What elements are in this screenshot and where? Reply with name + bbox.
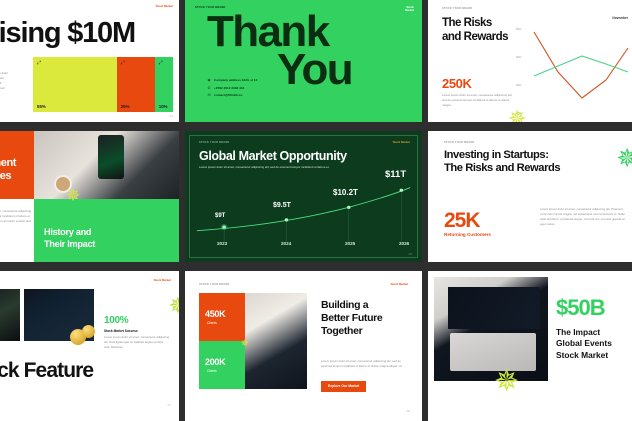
point-2025	[347, 206, 351, 209]
title-line-2: Global Events	[556, 338, 612, 348]
slide-content: STOCK YOUR BRAND Investing in Startups: …	[428, 131, 632, 262]
starburst-icon: ✵	[66, 187, 80, 204]
starburst-icon: ✵	[616, 145, 632, 171]
slide-content: STOCK YOUR BRAND Stock Market 450K Clien…	[185, 271, 422, 421]
slide-investing-in-startups[interactable]: STOCK YOUR BRAND Investing in Startups: …	[428, 131, 632, 271]
slide-thank-you[interactable]: STOCK YOUR BRAND Stock Market Thank You …	[185, 0, 428, 131]
tile-label: Clients	[207, 321, 217, 325]
slide-content: STOCK YOUR BRAND The Risks and Rewards 2…	[428, 0, 632, 122]
status-badge: Stock Market	[393, 141, 410, 144]
contact-address[interactable]: ◉ Company address 1234, st 12	[207, 78, 257, 82]
page-title: Investment Strategies	[0, 157, 16, 183]
crypto-photo	[24, 289, 94, 341]
page-title: Stock Feature	[0, 359, 93, 383]
side-line-4: sed do eiusmod	[0, 86, 24, 91]
bar-value: 25%	[121, 104, 130, 109]
page-title: The Impact Global Events Stock Market	[556, 327, 612, 361]
status-badge: Stock Market	[391, 283, 408, 286]
phone-photo	[98, 135, 124, 179]
slide-global-market-opportunity[interactable]: STOCK YOUR BRAND Stock Market Global Mar…	[185, 131, 428, 271]
point-2023	[222, 225, 226, 228]
slide-deck-grid: Stock Market Stock Market Raising $10M 1…	[0, 0, 632, 421]
laptop-trading-photo	[434, 277, 548, 381]
title-line-2: and Rewards	[442, 31, 508, 43]
title-line-1: The Risks	[442, 17, 492, 29]
x-tick-2024: 2024	[281, 241, 291, 246]
point-2024	[285, 218, 289, 221]
kpi-label: Returning Customers	[444, 232, 491, 237]
page-number: 05	[409, 252, 412, 256]
series-risk-line	[534, 32, 628, 98]
trading-photo	[245, 293, 307, 389]
title-line-2: Strategies	[0, 170, 11, 182]
side-stats: 10% Lorem ipsum dolor sit amet consec ad…	[0, 62, 24, 91]
chart-svg	[526, 14, 630, 120]
coin-graphic	[82, 325, 95, 338]
bar-segment[interactable]: ⤢ 55%	[33, 57, 117, 112]
slide-investment-strategies[interactable]: Investment Strategies ✵ History and Thei…	[0, 131, 185, 271]
body-text: Lorem ipsum dolor sit amet, consectetur …	[0, 209, 32, 229]
page-number: 01	[170, 114, 173, 118]
title-line-2: The Risks and Rewards	[444, 162, 560, 174]
x-tick-2026: 2026	[399, 241, 409, 246]
phone-icon: ✆	[207, 86, 211, 90]
contact-email[interactable]: ✉ contact@fifinitiv.co	[207, 93, 257, 97]
body-text: Lorem ipsum dolor sit amet, consectetur …	[540, 207, 626, 227]
badge-line-2: Market	[405, 8, 414, 12]
green-line-2: Their Impact	[44, 239, 95, 249]
data-label-2023: $9T	[215, 213, 225, 219]
title-line-3: Stock Market	[556, 350, 608, 360]
arrow-up-right-icon: ⤢	[37, 61, 41, 66]
slide-stock-feature[interactable]: STOCK YOUR BRAND Stock Market 100% Stock…	[0, 271, 185, 421]
brand-tag: STOCK YOUR BRAND	[199, 283, 230, 286]
status-badge: Stock Market	[154, 279, 171, 282]
location-pin-icon: ◉	[207, 78, 211, 82]
tile-value: 450K	[205, 309, 225, 319]
growth-curve	[197, 188, 410, 231]
slide-content: STOCK YOUR BRAND Stock Market Global Mar…	[185, 131, 422, 262]
starburst-icon: ✵	[241, 339, 249, 348]
status-badge: Stock Market	[156, 5, 173, 8]
keyboard-graphic	[450, 333, 536, 371]
funding-bar-chart: ⤢ 55% ⤢ 25% ⤢ 10%	[33, 57, 173, 112]
slide-building-better-future[interactable]: STOCK YOUR BRAND Stock Market 450K Clien…	[185, 271, 428, 421]
slide-content: STOCK YOUR BRAND Stock Market 100% Stock…	[0, 271, 179, 421]
title-line-1: Investment	[0, 157, 16, 169]
contact-list: ◉ Company address 1234, st 12 ✆ +0782 40…	[207, 78, 257, 101]
starburst-icon: ✵	[494, 367, 519, 397]
thank-you-line-2: You	[277, 52, 352, 89]
page-title: Raising $10M	[0, 17, 135, 50]
y-tick-label: 40%	[516, 56, 521, 59]
title-line-2: Better Future	[321, 312, 382, 324]
slide-content: $50B The Impact Global Events Stock Mark…	[428, 271, 632, 421]
slide-raising-10m[interactable]: Stock Market Stock Market Raising $10M 1…	[0, 0, 185, 131]
page-title: The Risks and Rewards	[442, 17, 508, 44]
brand-tag: STOCK YOUR BRAND	[444, 141, 475, 144]
body-text: Lorem ipsum dolor sit amet, consectetur …	[442, 93, 514, 108]
data-label-2026: $11T	[385, 169, 406, 180]
slide-impact-global-events[interactable]: $50B The Impact Global Events Stock Mark…	[428, 271, 632, 421]
risk-reward-line-chart: November 50% 40% 30% 20%	[526, 14, 630, 120]
green-headline: History and Their Impact	[44, 227, 95, 250]
explore-our-market-button[interactable]: Explore Our Market	[321, 381, 366, 392]
page-title: Global Market Opportunity	[199, 149, 347, 163]
bar-segment[interactable]: ⤢ 25%	[117, 57, 155, 112]
bar-segment[interactable]: ⤢ 10%	[155, 57, 173, 112]
page-number: 07	[168, 403, 171, 407]
contact-email-text: contact@fifinitiv.co	[214, 93, 242, 97]
contact-phone[interactable]: ✆ +0782 4012 3333 444	[207, 86, 257, 90]
slide-content: Investment Strategies ✵ History and Thei…	[0, 131, 179, 262]
page-number: 08	[407, 409, 410, 413]
contact-address-text: Company address 1234, st 12	[214, 78, 257, 82]
slide-content: STOCK YOUR BRAND Stock Market Thank You …	[185, 0, 422, 122]
page-title: Investing in Startups: The Risks and Rew…	[444, 149, 560, 176]
desk-photo	[34, 131, 179, 199]
y-tick-label: 50%	[516, 28, 521, 31]
kpi-value: 100%	[104, 315, 128, 326]
bar-value: 10%	[159, 104, 168, 109]
slide-content: Stock Market Stock Market Raising $10M 1…	[0, 0, 179, 122]
page-title: Building a Better Future Together	[321, 299, 382, 339]
slide-risks-and-rewards[interactable]: STOCK YOUR BRAND The Risks and Rewards 2…	[428, 0, 632, 131]
data-label-2024: $9.5T	[273, 202, 291, 209]
title-line-3: Together	[321, 325, 362, 337]
starburst-icon: ✵	[169, 295, 179, 317]
screen-graphic	[448, 287, 540, 329]
contact-phone-text: +0782 4012 3333 444	[214, 86, 244, 90]
brand-tag: STOCK YOUR BRAND	[199, 141, 230, 144]
title-line-1: Building a	[321, 299, 368, 311]
bar-value: 55%	[37, 104, 46, 109]
arrow-up-right-icon: ⤢	[121, 61, 125, 66]
tile-value: 200K	[205, 357, 225, 367]
chart-title: November	[612, 16, 628, 20]
body-text: Lorem ipsum dolor sit amet, consectetur …	[104, 335, 170, 350]
series-reward-line	[534, 56, 628, 76]
kpi-value: 250K	[442, 76, 471, 91]
brand-tag: STOCK YOUR BRAND	[442, 7, 473, 10]
laptop-photo	[0, 289, 20, 341]
envelope-icon: ✉	[207, 93, 211, 97]
brand-tag: STOCK YOUR BRAND	[0, 279, 1, 282]
green-line-1: History and	[44, 227, 91, 237]
title-line-1: Investing in Startups:	[444, 149, 548, 161]
x-tick-2023: 2023	[217, 241, 227, 246]
subtitle: Lorem ipsum dolor sit amet, consectetur …	[199, 165, 339, 170]
tile-label: Clients	[207, 369, 217, 373]
kpi-value: $50B	[556, 295, 605, 321]
body-text: Lorem ipsum dolor sit amet, consectetur …	[321, 359, 405, 369]
arrow-up-right-icon: ⤢	[159, 61, 163, 66]
kpi-value: 25K	[444, 209, 480, 233]
starburst-icon: ✵	[508, 108, 526, 122]
y-tick-label: 30%	[516, 84, 521, 87]
data-label-2025: $10.2T	[333, 188, 358, 197]
x-tick-2025: 2025	[345, 241, 355, 246]
point-2026	[400, 189, 404, 192]
kpi-label: Stock Market Success	[104, 329, 138, 333]
title-line-1: The Impact	[556, 327, 600, 337]
market-growth-line-chart: $9T $9.5T $10.2T $11T 2023 2024 2025 202…	[193, 175, 414, 254]
side-kpi: 10%	[0, 62, 24, 68]
status-badge: Stock Market	[405, 6, 414, 13]
